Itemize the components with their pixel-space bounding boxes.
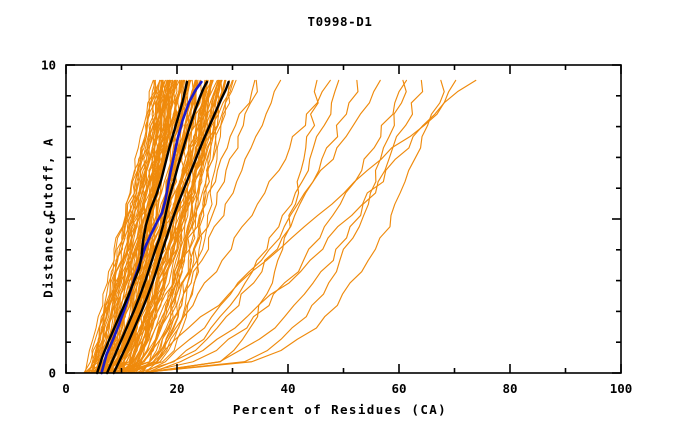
- x-axis-label: Percent of Residues (CA): [0, 402, 680, 417]
- x-tick-label: 20: [169, 381, 184, 396]
- chart-container: T0998-D1 Percent of Residues (CA) Distan…: [0, 0, 680, 440]
- x-tick-label: 60: [391, 381, 406, 396]
- chart-canvas: [0, 0, 680, 440]
- x-tick-label: 0: [62, 381, 70, 396]
- prediction-curves-bundle: [84, 80, 476, 373]
- y-tick-label: 0: [0, 366, 56, 381]
- chart-title: T0998-D1: [0, 14, 680, 29]
- y-tick-label: 5: [0, 212, 56, 227]
- reference-curves: [97, 82, 229, 373]
- x-tick-label: 40: [280, 381, 295, 396]
- y-tick-label: 10: [0, 58, 56, 73]
- x-tick-label: 80: [502, 381, 517, 396]
- x-tick-label: 100: [610, 381, 633, 396]
